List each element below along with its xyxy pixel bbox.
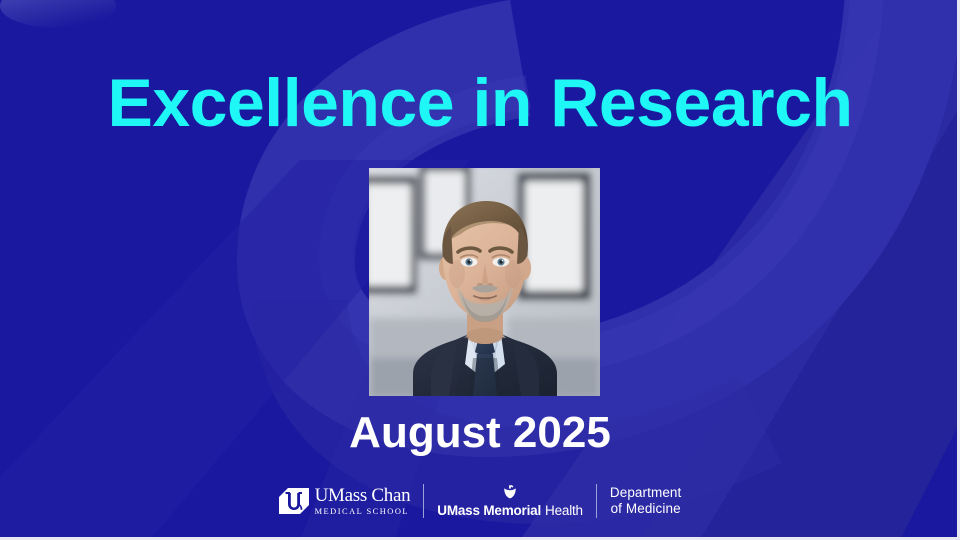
umass-memorial-tulip-icon	[502, 485, 518, 500]
umass-chan-subtitle: MEDICAL SCHOOL	[315, 506, 411, 517]
department-of-medicine-logo: Department of Medicine	[610, 480, 682, 522]
logo-divider-1	[423, 484, 424, 518]
umass-memorial-name: UMass Memorial	[437, 503, 541, 518]
umass-chan-name: UMass Chan	[315, 486, 411, 505]
umass-memorial-wordmark: UMass Memorial Health	[437, 503, 583, 518]
umass-chan-wordmark: UMass Chan MEDICAL SCHOOL	[315, 486, 411, 517]
slide-date: August 2025	[0, 406, 960, 460]
umass-chan-u-mark-icon	[279, 488, 309, 514]
umass-memorial-health-logo: UMass Memorial Health	[437, 480, 583, 522]
umass-chan-logo: UMass Chan MEDICAL SCHOOL	[279, 480, 411, 522]
portrait-photo	[369, 168, 600, 396]
department-line-1: Department	[610, 485, 682, 501]
headshot-image	[369, 168, 600, 396]
umass-memorial-health-word: Health	[545, 503, 583, 518]
logo-bar: UMass Chan MEDICAL SCHOOL UMass Memorial…	[0, 478, 960, 524]
slide-title: Excellence in Research	[0, 62, 960, 144]
department-line-2: of Medicine	[611, 501, 681, 517]
presentation-slide: Excellence in Research	[0, 0, 960, 540]
logo-divider-2	[596, 484, 597, 518]
